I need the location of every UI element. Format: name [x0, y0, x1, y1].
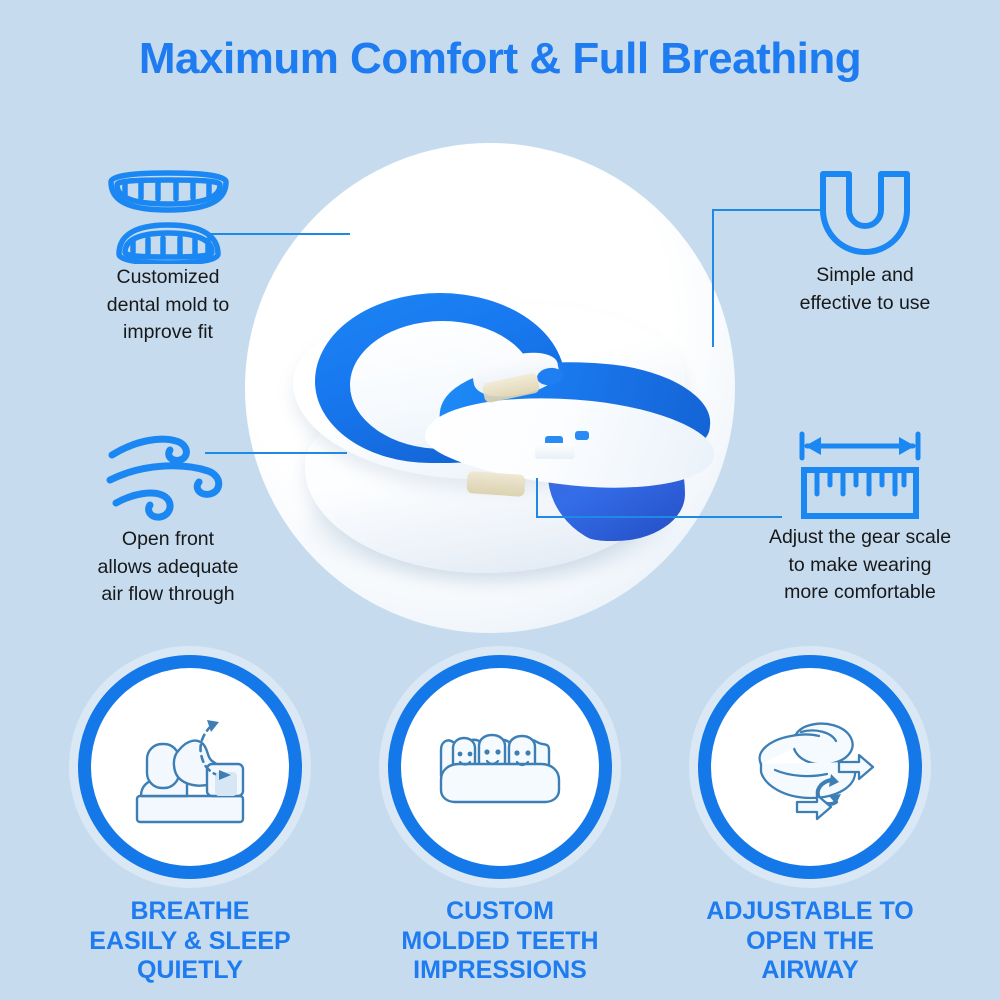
badge-ring — [388, 655, 612, 879]
feature-open-front-airflow: Open front allows adequate air flow thro… — [52, 430, 284, 609]
page-title: Maximum Comfort & Full Breathing — [0, 34, 1000, 84]
badge-breathe-easily-sleep-quietly: BREATHE EASILY & SLEEP QUIETLY — [57, 655, 323, 986]
leader-line-simple-vertical — [712, 209, 714, 347]
feature-caption: Adjust the gear scale to make wearing mo… — [726, 524, 994, 607]
gear-tab-b — [575, 431, 589, 440]
person-sleeping-in-bed-icon — [115, 692, 265, 842]
u-shaped-tray-icon — [740, 166, 990, 262]
feature-caption: Open front allows adequate air flow thro… — [52, 526, 284, 609]
ruler-measure-icon — [726, 428, 994, 524]
dental-arches-icon — [52, 168, 284, 264]
badge-custom-molded-teeth-impressions: CUSTOM MOLDED TEETH IMPRESSIONS — [367, 655, 633, 986]
smiling-teeth-tray-icon — [425, 692, 575, 842]
feature-caption: Customized dental mold to improve fit — [52, 264, 284, 347]
airflow-wind-icon — [52, 430, 284, 526]
badge-label: CUSTOM MOLDED TEETH IMPRESSIONS — [401, 897, 598, 986]
gear-tab-c — [535, 443, 575, 459]
feature-customized-dental-mold: Customized dental mold to improve fit — [52, 168, 284, 347]
badge-ring — [698, 655, 922, 879]
benefit-badges: BREATHE EASILY & SLEEP QUIETLY — [0, 655, 1000, 986]
leader-line-gear-vertical — [536, 478, 538, 518]
feature-caption: Simple and effective to use — [740, 262, 990, 317]
mouthguard-airflow-arrows-icon — [735, 692, 885, 842]
badge-ring — [78, 655, 302, 879]
badge-label: BREATHE EASILY & SLEEP QUIETLY — [89, 897, 290, 986]
badge-label: ADJUSTABLE TO OPEN THE AIRWAY — [706, 897, 913, 986]
badge-adjustable-to-open-the-airway: ADJUSTABLE TO OPEN THE AIRWAY — [677, 655, 943, 986]
product-image — [245, 143, 735, 633]
adjustment-screw-lower — [466, 471, 525, 497]
feature-simple-effective: Simple and effective to use — [740, 166, 990, 317]
feature-adjustable-gear-scale: Adjust the gear scale to make wearing mo… — [726, 428, 994, 607]
